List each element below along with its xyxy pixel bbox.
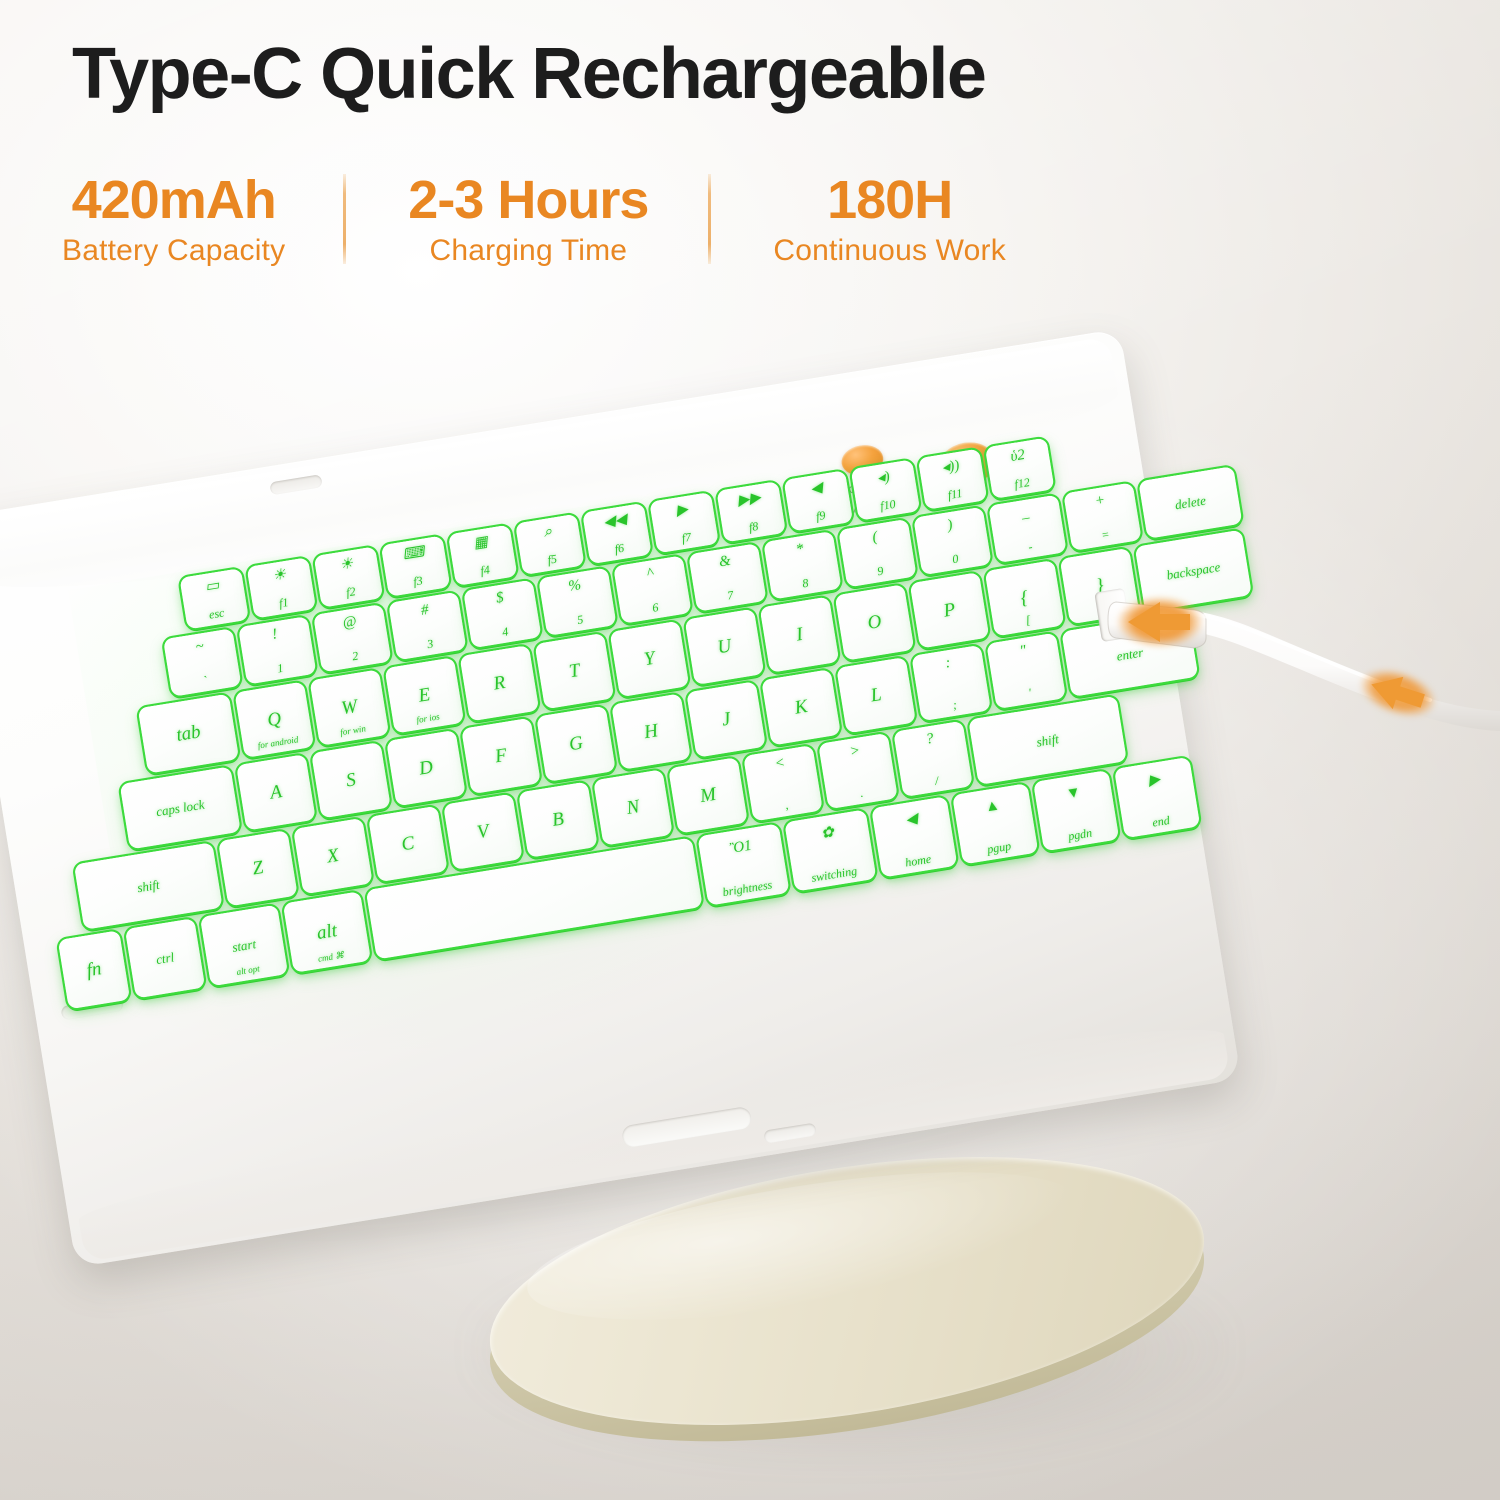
key-blank[interactable]: ~`: [163, 628, 241, 696]
stat-value: 180H: [827, 172, 952, 229]
key-sublabel: alt opt: [236, 964, 260, 977]
cable-svg: [1098, 560, 1500, 780]
key-1[interactable]: !1: [238, 616, 316, 684]
key-m[interactable]: M: [668, 757, 748, 833]
key-icon-blank: ▦: [473, 534, 489, 551]
key-label: V: [476, 822, 490, 843]
key-4[interactable]: $4: [463, 580, 541, 648]
key-icon-blank: ▶: [675, 502, 689, 519]
key-legend-shifted: ~: [195, 639, 205, 655]
key-f3[interactable]: ⌨f3: [381, 536, 451, 597]
key-l[interactable]: L: [836, 657, 916, 733]
key-s[interactable]: S: [311, 742, 391, 818]
key-switching[interactable]: ✿switching: [784, 809, 876, 891]
key-w[interactable]: Wfor win: [310, 669, 390, 745]
key-u[interactable]: U: [685, 609, 765, 685]
key-label: A: [269, 782, 283, 803]
key-icon-blank: ◀: [905, 812, 919, 829]
key-label: end: [1151, 814, 1170, 829]
key-label: f9: [815, 509, 826, 522]
key-esc[interactable]: ▭esc: [179, 568, 249, 629]
key-legend-primary: -: [1027, 540, 1033, 552]
key-label: R: [492, 673, 506, 694]
key-label: f5: [547, 553, 558, 566]
key-label: shift: [136, 878, 160, 894]
key-icon-blank: ▶▶: [737, 490, 762, 508]
key-blank[interactable]: >.: [818, 733, 898, 809]
key-caps-lock[interactable]: caps lock: [120, 766, 241, 849]
key-legend-primary: .: [859, 787, 864, 799]
key-label: f4: [480, 563, 491, 576]
key-label: start: [231, 937, 257, 954]
key-legend-shifted: ): [946, 518, 953, 534]
key-legend-shifted: ": [1019, 644, 1028, 660]
key-legend-primary: [: [1025, 614, 1032, 627]
key-o[interactable]: O: [835, 584, 915, 660]
key-label: caps lock: [155, 798, 205, 819]
key-sublabel: for android: [257, 735, 299, 750]
key-label: f8: [748, 520, 759, 533]
key-f2[interactable]: ☀f2: [314, 546, 384, 607]
stat-label: Battery Capacity: [62, 234, 285, 268]
spacer: [346, 172, 408, 268]
key-icon-2: ὑ2: [1009, 447, 1026, 464]
key-label: S: [345, 770, 357, 790]
key-legend-primary: 1: [276, 662, 284, 675]
key-blank[interactable]: "': [986, 633, 1066, 709]
key-b[interactable]: B: [518, 782, 598, 858]
key-y[interactable]: Y: [610, 621, 690, 697]
key-v[interactable]: V: [443, 794, 523, 870]
spacer: [648, 172, 708, 268]
stat-label: Continuous Work: [773, 234, 1006, 268]
key-f1[interactable]: ☀f1: [247, 557, 317, 618]
key-e[interactable]: Efor ios: [385, 657, 465, 733]
key-legend-primary: =: [1100, 528, 1110, 541]
key-f6[interactable]: ◀◀f6: [582, 503, 652, 564]
key-label: f12: [1014, 476, 1031, 490]
key-blank[interactable]: <,: [743, 745, 823, 821]
key-j[interactable]: J: [686, 681, 766, 757]
key-legend-shifted: *: [795, 542, 805, 558]
key-label: home: [904, 853, 932, 869]
key-brightness[interactable]: Ὂ1brightness: [697, 823, 789, 905]
key-label: N: [625, 797, 641, 818]
stat-battery-capacity: 420mAh Battery Capacity: [62, 172, 285, 268]
key-pgdn[interactable]: ▼pgdn: [1033, 770, 1119, 851]
key-legend-primary: 4: [501, 625, 509, 638]
key-blank[interactable]: {[: [985, 560, 1065, 636]
key-label: f10: [879, 498, 896, 512]
key-label: C: [400, 834, 416, 855]
key-shift[interactable]: shift: [74, 842, 223, 930]
key-x[interactable]: X: [293, 818, 373, 894]
key-sublabel: for ios: [416, 712, 440, 725]
key-label: B: [551, 809, 565, 830]
key-legend-primary: 6: [651, 601, 659, 614]
stats-row: 420mAh Battery Capacity 2-3 Hours Chargi…: [62, 172, 1006, 268]
key-t[interactable]: T: [535, 633, 615, 709]
key-f5[interactable]: ⌕f5: [515, 514, 585, 575]
key-legend-primary: 8: [801, 577, 809, 590]
key-home[interactable]: ◀home: [871, 796, 957, 877]
key-label: switching: [811, 865, 858, 884]
key-legend-shifted: #: [420, 603, 430, 619]
key-icon-blank: ☀: [272, 567, 288, 584]
key-legend-shifted: %: [568, 578, 583, 595]
key-n[interactable]: N: [593, 769, 673, 845]
key-3[interactable]: #3: [388, 592, 466, 660]
key-icon-blank: ▼: [1065, 786, 1082, 803]
key-label: {: [1019, 588, 1030, 608]
key-blank[interactable]: :;: [911, 645, 991, 721]
key-f8[interactable]: ▶▶f8: [716, 481, 786, 542]
key-d[interactable]: D: [386, 730, 466, 806]
key-g[interactable]: G: [536, 706, 616, 782]
key-icon-blank: ▲: [984, 799, 1001, 816]
key-legend-primary: ': [1027, 686, 1031, 698]
key-icon-blank: ◂): [876, 469, 891, 486]
key-icon-blank: ◀: [809, 480, 823, 497]
key-label: X: [326, 846, 340, 867]
key-legend-primary: ,: [784, 799, 789, 811]
key-legend-shifted: (: [871, 530, 878, 546]
key-label: F: [494, 746, 508, 767]
page-title: Type-C Quick Rechargeable: [72, 33, 985, 115]
key-label: P: [942, 600, 956, 621]
key-label: L: [869, 685, 882, 705]
key-label: Z: [251, 858, 264, 878]
key-icon-blank: ☀: [339, 556, 355, 573]
key-label: shift: [1035, 732, 1059, 748]
key-legend-primary: /: [934, 774, 939, 786]
key-label: tab: [175, 722, 202, 745]
key-6[interactable]: ^6: [613, 555, 691, 623]
key-label: f11: [947, 487, 963, 501]
key-legend-primary: 3: [426, 637, 434, 650]
key-legend-shifted: $: [495, 591, 505, 607]
key-label: T: [568, 661, 581, 681]
key-9[interactable]: (9: [838, 519, 916, 587]
key-legend-shifted: <: [774, 756, 786, 772]
key-legend-shifted: >: [849, 744, 861, 760]
key-start[interactable]: startalt opt: [200, 905, 288, 987]
key-sublabel: for win: [340, 724, 367, 737]
key-label: W: [340, 697, 359, 718]
key-legend-shifted: _: [1020, 506, 1030, 522]
key-label: I: [795, 625, 804, 645]
key-i[interactable]: I: [760, 597, 840, 673]
key-label: Y: [643, 649, 656, 669]
key-icon-colors: ✿: [820, 826, 835, 843]
key-8[interactable]: *8: [763, 531, 841, 599]
key-label: f6: [614, 542, 625, 555]
key-blank[interactable]: +=: [1063, 482, 1141, 550]
key-legend-shifted: ?: [925, 732, 935, 748]
key-pgup[interactable]: ▲pgup: [952, 783, 1038, 864]
key-label: pgup: [986, 840, 1012, 856]
key-label: f3: [412, 574, 423, 587]
key-label: brightness: [722, 878, 773, 898]
key-blank[interactable]: _-: [988, 495, 1066, 563]
key-icon-blank: ◂)): [941, 458, 961, 476]
stat-value: 420mAh: [72, 172, 276, 229]
key-k[interactable]: K: [761, 669, 841, 745]
key-legend-primary: `: [202, 674, 208, 686]
key-f11[interactable]: ◂))f11: [918, 449, 988, 510]
key-p[interactable]: P: [910, 572, 990, 648]
key-label: f2: [345, 585, 356, 598]
key-0[interactable]: )0: [913, 507, 991, 575]
key-icon-blank: ⌨: [402, 545, 426, 563]
key-legend-shifted: :: [944, 656, 951, 672]
key-label: pgdn: [1067, 827, 1093, 843]
stat-charging-time: 2-3 Hours Charging Time: [408, 172, 648, 268]
usb-c-charging-cable: [1098, 560, 1500, 780]
stat-value: 2-3 Hours: [408, 172, 648, 229]
key-label: E: [417, 685, 431, 706]
key-label: esc: [208, 606, 225, 620]
key-label: alt: [316, 921, 339, 943]
key-ctrl[interactable]: ctrl: [125, 918, 205, 998]
key-tab[interactable]: tab: [138, 694, 239, 774]
key-label: f1: [278, 596, 289, 609]
key-legend-shifted: !: [271, 627, 278, 643]
key-legend-primary: 5: [576, 613, 584, 626]
key-h[interactable]: H: [611, 693, 691, 769]
spacer: [711, 172, 773, 268]
key-icon-bulb: Ὂ1: [729, 839, 753, 857]
key-legend-primary: 0: [951, 552, 959, 565]
key-label: delete: [1174, 494, 1207, 512]
stat-label: Charging Time: [429, 234, 627, 268]
key-icon-blank: ◀◀: [602, 512, 627, 530]
key-sublabel: cmd ⌘: [317, 951, 344, 964]
key-legend-shifted: +: [1094, 493, 1106, 509]
key-legend-primary: 7: [726, 589, 734, 602]
key-fn[interactable]: fn: [58, 930, 130, 1009]
key-icon-blank: ⌕: [542, 524, 553, 540]
key-f7[interactable]: ▶f7: [649, 492, 719, 553]
key-alt[interactable]: altcmd ⌘: [283, 891, 371, 973]
key-legend-primary: 2: [351, 650, 359, 663]
key-r[interactable]: R: [460, 645, 540, 721]
key-icon-blank: ▭: [204, 578, 220, 595]
key-label: Q: [266, 709, 283, 730]
key-label: f7: [681, 531, 692, 544]
key-f12[interactable]: ὑ2f12: [985, 438, 1055, 499]
key-label: D: [418, 758, 435, 779]
key-label: M: [699, 785, 718, 806]
key-label: U: [716, 636, 733, 657]
key-z[interactable]: Z: [218, 830, 298, 906]
key-f9[interactable]: ◀f9: [784, 470, 854, 531]
key-label: ctrl: [155, 950, 175, 966]
key-f10[interactable]: ◂)f10: [851, 459, 921, 520]
key-legend-primary: ;: [952, 699, 958, 711]
key-label: fn: [85, 959, 103, 980]
key-label: J: [720, 709, 731, 729]
key-5[interactable]: %5: [538, 568, 616, 636]
key-legend-shifted: ^: [646, 566, 655, 582]
key-f4[interactable]: ▦f4: [448, 525, 518, 586]
key-legend-shifted: @: [342, 614, 358, 631]
key-legend-primary: 9: [876, 565, 884, 578]
key-c[interactable]: C: [368, 806, 448, 882]
key-2[interactable]: @2: [313, 604, 391, 672]
key-label: K: [793, 697, 809, 718]
key-a[interactable]: A: [236, 754, 316, 830]
stat-continuous-work: 180H Continuous Work: [773, 172, 1006, 268]
key-blank[interactable]: ?/: [893, 721, 973, 797]
key-legend-shifted: &: [718, 554, 732, 571]
key-label: O: [866, 612, 883, 633]
key-q[interactable]: Qfor android: [234, 682, 314, 758]
pedestal-disc: [486, 1168, 1208, 1450]
key-f[interactable]: F: [461, 718, 541, 794]
key-label: G: [568, 733, 585, 754]
key-label: H: [643, 721, 660, 742]
key-7[interactable]: &7: [688, 543, 766, 611]
spacer: [285, 172, 343, 268]
